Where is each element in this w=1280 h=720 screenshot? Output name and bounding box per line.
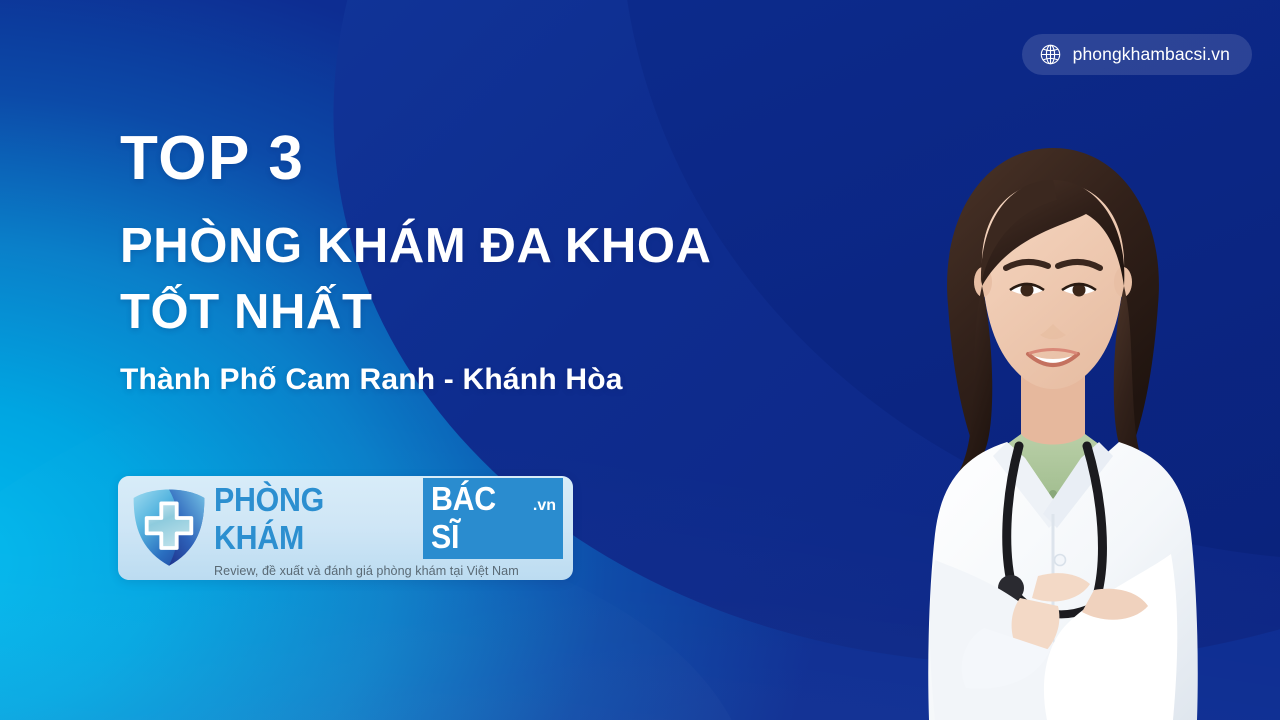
logo-wordmark: PHÒNG KHÁM BÁC SĨ .vn xyxy=(214,478,563,559)
promo-banner: phongkhambacsi.vn TOP 3 PHÒNG KHÁM ĐA KH… xyxy=(0,0,1280,720)
doctor-photo xyxy=(888,90,1218,720)
main-heading: PHÒNG KHÁM ĐA KHOA xyxy=(120,216,880,278)
logo-word-bacsi-box: BÁC SĨ .vn xyxy=(423,478,563,559)
logo-word-bacsi: BÁC SĨ xyxy=(431,480,521,556)
brand-logo-panel[interactable]: PHÒNG KHÁM BÁC SĨ .vn Review, đề xuất và… xyxy=(118,476,573,580)
site-url-badge[interactable]: phongkhambacsi.vn xyxy=(1022,34,1252,75)
shield-medical-cross-icon xyxy=(130,488,208,568)
main-heading-line2: TỐT NHẤT xyxy=(120,282,880,344)
logo-tagline: Review, đề xuất và đánh giá phòng khám t… xyxy=(214,564,563,578)
location-subheading: Thành Phố Cam Ranh - Khánh Hòa xyxy=(120,363,880,397)
globe-icon xyxy=(1039,43,1062,66)
logo-tld: .vn xyxy=(533,497,556,515)
headline-block: TOP 3 PHÒNG KHÁM ĐA KHOA TỐT NHẤT Thành … xyxy=(120,128,880,397)
logo-text-block: PHÒNG KHÁM BÁC SĨ .vn Review, đề xuất và… xyxy=(214,478,563,578)
rank-heading: TOP 3 xyxy=(120,128,880,190)
site-url-text: phongkhambacsi.vn xyxy=(1073,44,1230,65)
logo-word-phongkham: PHÒNG KHÁM xyxy=(214,481,403,557)
